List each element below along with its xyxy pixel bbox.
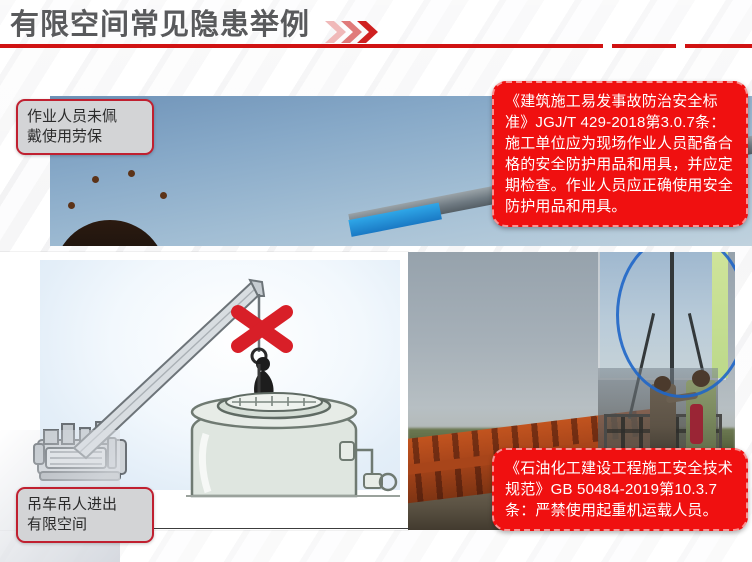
tank-bolt <box>68 202 75 209</box>
page-title: 有限空间常见隐患举例 <box>10 6 310 44</box>
header-divider <box>0 44 752 48</box>
divider-gap <box>603 43 612 49</box>
tank-bolt <box>160 192 167 199</box>
slide-header: 有限空间常见隐患举例 <box>0 0 752 48</box>
regulation-bubble-jgj-429: 《建筑施工易发事故防治安全标准》JGJ/T 429-2018第3.0.7条：施工… <box>492 81 748 227</box>
worker-right-vest <box>690 404 703 444</box>
regulation-bubble-gb-50484: 《石油化工建设工程施工安全技术规范》GB 50484-2019第10.3.7条：… <box>492 448 748 531</box>
tank-bolt <box>92 176 99 183</box>
callout-ppe-not-worn: 作业人员未佩 戴使用劳保 <box>16 99 154 155</box>
slide-root: 有限空间常见隐患举例 作业人员未佩 戴使用劳保 吊车吊人进出 有限空间 《建筑施… <box>0 0 752 562</box>
tank-opening <box>54 220 166 246</box>
chevron-double-right-icon <box>323 19 385 45</box>
callout-crane-lifting-people: 吊车吊人进出 有限空间 <box>16 487 154 543</box>
callout-leader-line <box>138 528 410 529</box>
divider-gap <box>676 43 685 49</box>
tank-bolt <box>128 170 135 177</box>
storage-tank-illustration <box>192 393 396 496</box>
red-cross-icon <box>238 312 286 346</box>
